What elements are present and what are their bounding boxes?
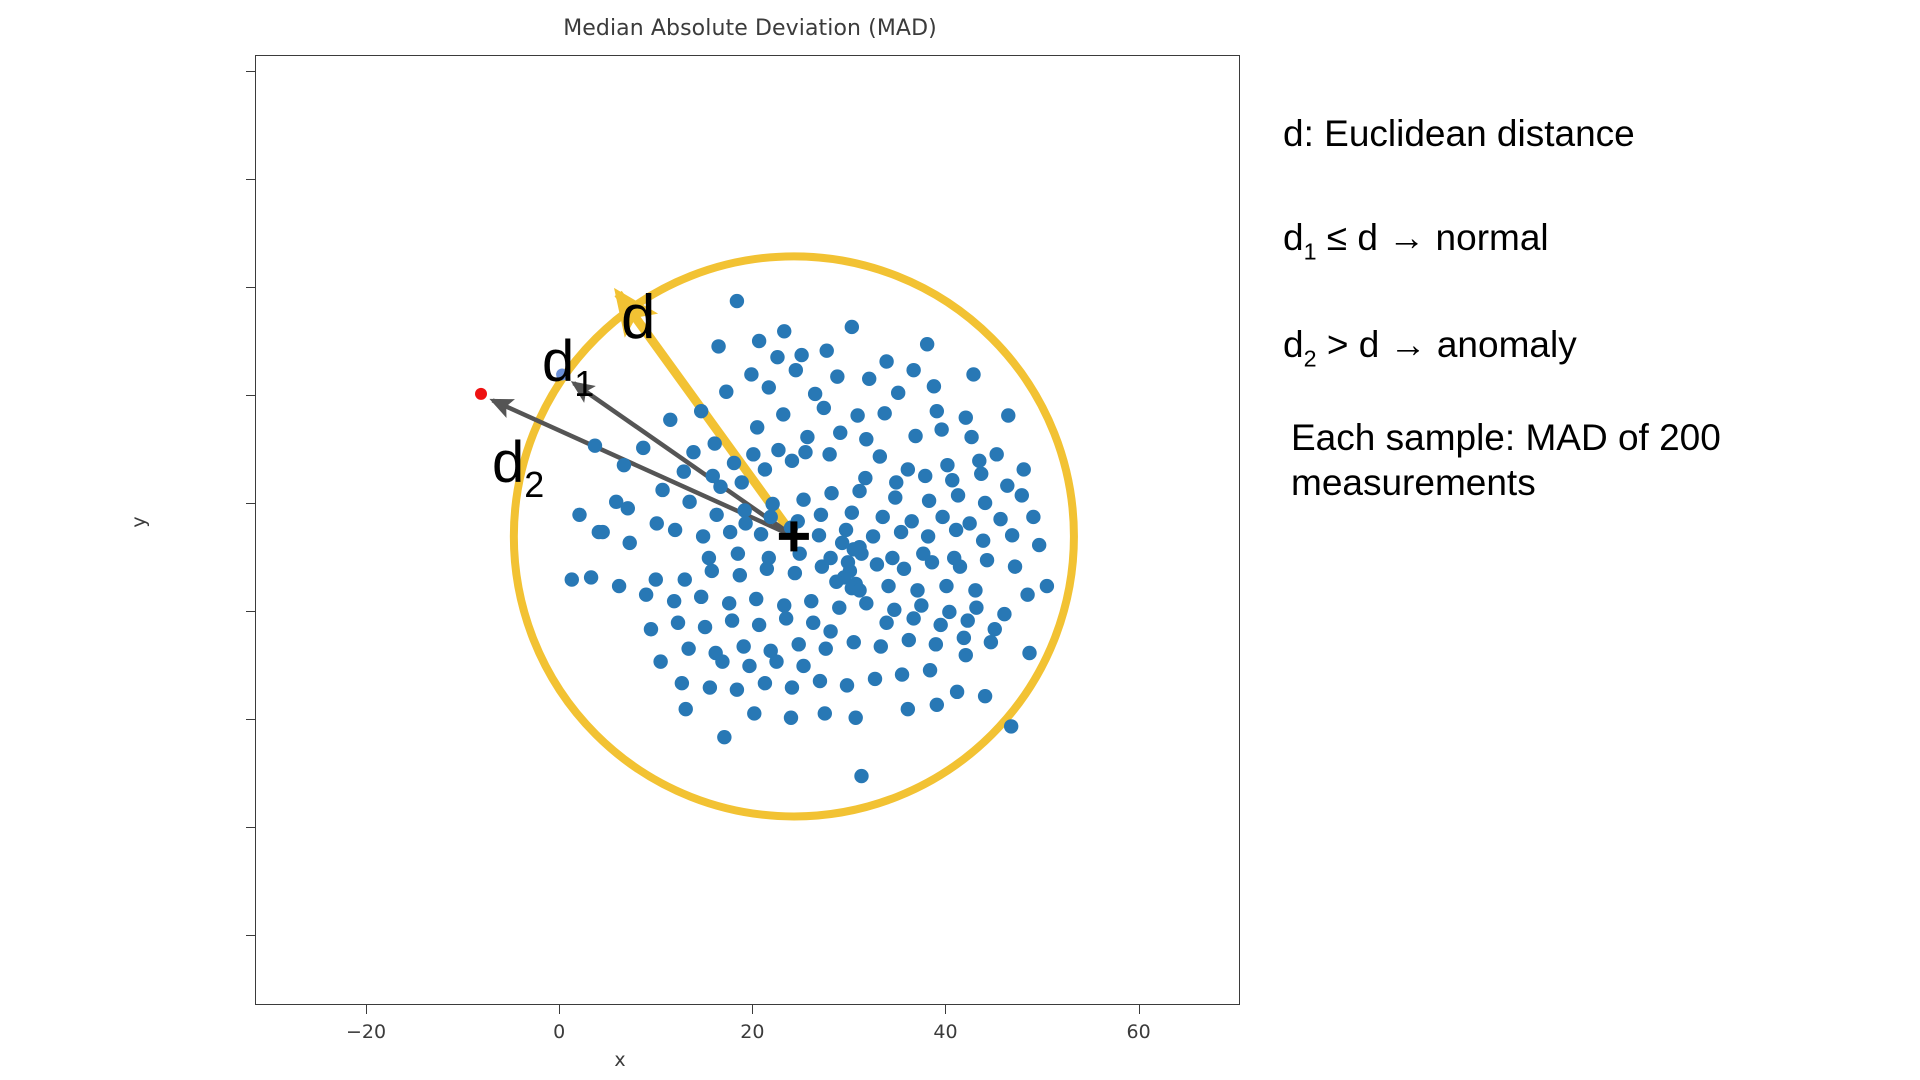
- x-tick: [559, 1005, 560, 1014]
- data-point: [858, 471, 872, 485]
- data-point: [972, 454, 986, 468]
- data-point: [854, 769, 868, 783]
- distance-label-d: d: [621, 287, 655, 349]
- series-samples: [565, 294, 1055, 783]
- data-point: [947, 551, 961, 565]
- data-point: [694, 590, 708, 604]
- data-point: [708, 436, 722, 450]
- data-point: [1008, 559, 1022, 573]
- data-point: [675, 676, 689, 690]
- data-point: [747, 706, 761, 720]
- data-point: [945, 473, 959, 487]
- data-point: [1022, 646, 1036, 660]
- data-point: [758, 462, 772, 476]
- data-point: [823, 551, 837, 565]
- data-point: [703, 680, 717, 694]
- data-point: [835, 536, 849, 550]
- data-point: [764, 510, 778, 524]
- data-point: [758, 676, 772, 690]
- subscript: 1: [574, 363, 594, 404]
- y-tick: [246, 287, 255, 288]
- data-point: [962, 516, 976, 530]
- distance-label-d1: d1: [542, 333, 594, 402]
- data-point: [868, 672, 882, 686]
- data-point: [823, 624, 837, 638]
- data-point: [877, 406, 891, 420]
- notes-panel: d: Euclidean distance d1 ≤ d → normal d2…: [1283, 0, 1920, 1080]
- data-point: [735, 475, 749, 489]
- data-point: [830, 369, 844, 383]
- data-point: [1040, 579, 1054, 593]
- data-point: [785, 680, 799, 694]
- data-point: [752, 618, 766, 632]
- data-point: [876, 510, 890, 524]
- data-point: [588, 439, 602, 453]
- data-point: [964, 430, 978, 444]
- data-point: [686, 445, 700, 459]
- data-point: [921, 529, 935, 543]
- x-tick: [945, 1005, 946, 1014]
- x-tick: [1139, 1005, 1140, 1014]
- data-point: [744, 367, 758, 381]
- data-point: [794, 348, 808, 362]
- data-point: [746, 447, 760, 461]
- data-point: [639, 587, 653, 601]
- data-point: [957, 631, 971, 645]
- x-tick-label: 20: [740, 1021, 764, 1043]
- data-point: [1026, 510, 1040, 524]
- data-point: [798, 445, 812, 459]
- data-point: [752, 334, 766, 348]
- data-point: [623, 536, 637, 550]
- data-point: [824, 486, 838, 500]
- data-point: [850, 408, 864, 422]
- data-point: [997, 607, 1011, 621]
- data-point: [866, 529, 880, 543]
- data-point: [650, 516, 664, 530]
- series-anomaly_example: [475, 388, 487, 400]
- data-point: [777, 598, 791, 612]
- data-point: [817, 401, 831, 415]
- data-point: [1020, 587, 1034, 601]
- data-point: [736, 639, 750, 653]
- data-point: [918, 469, 932, 483]
- data-point: [777, 324, 791, 338]
- data-point: [961, 613, 975, 627]
- y-tick: [246, 71, 255, 72]
- data-point: [885, 551, 899, 565]
- data-point: [980, 553, 994, 567]
- data-point: [742, 659, 756, 673]
- data-point: [942, 605, 956, 619]
- data-point: [923, 663, 937, 677]
- data-point: [725, 613, 739, 627]
- subscript: 2: [1304, 345, 1317, 371]
- data-point: [737, 503, 751, 517]
- data-point: [949, 523, 963, 537]
- data-point: [565, 572, 579, 586]
- note-anomaly-rule: d2 > d → anomaly: [1283, 322, 1577, 373]
- data-point: [796, 659, 810, 673]
- data-point: [988, 622, 1002, 636]
- data-point: [814, 508, 828, 522]
- data-point: [709, 508, 723, 522]
- data-point: [852, 583, 866, 597]
- data-point: [785, 454, 799, 468]
- data-point: [978, 689, 992, 703]
- x-axis-label: x: [0, 1049, 1240, 1071]
- data-point: [933, 618, 947, 632]
- mad-scatter-figure: Median Absolute Deviation (MAD) d d1 d2 …: [0, 0, 1240, 1080]
- data-point: [927, 379, 941, 393]
- data-point: [819, 641, 833, 655]
- data-point: [584, 570, 598, 584]
- data-point: [779, 611, 793, 625]
- data-point: [789, 363, 803, 377]
- data-point: [891, 386, 905, 400]
- y-axis-label: y: [128, 516, 150, 527]
- data-point: [914, 598, 928, 612]
- data-point: [966, 367, 980, 381]
- data-point: [888, 490, 902, 504]
- data-point: [906, 611, 920, 625]
- y-tick: [246, 395, 255, 396]
- x-tick: [752, 1005, 753, 1014]
- data-point: [905, 514, 919, 528]
- x-tick-label: 40: [933, 1021, 957, 1043]
- y-tick: [246, 179, 255, 180]
- note-normal-rule: d1 ≤ d → normal: [1283, 215, 1549, 266]
- data-point: [717, 730, 731, 744]
- data-point: [1004, 719, 1018, 733]
- distance-label-d2: d2: [492, 434, 544, 503]
- data-point: [852, 540, 866, 554]
- data-point: [706, 469, 720, 483]
- data-point: [617, 458, 631, 472]
- data-point: [681, 641, 695, 655]
- data-point: [644, 622, 658, 636]
- data-point: [879, 354, 893, 368]
- data-point: [984, 635, 998, 649]
- data-point: [959, 648, 973, 662]
- data-point: [655, 483, 669, 497]
- data-point: [832, 600, 846, 614]
- data-point: [671, 616, 685, 630]
- data-point: [572, 508, 586, 522]
- data-point: [839, 523, 853, 537]
- data-point: [920, 337, 934, 351]
- data-point: [592, 525, 606, 539]
- y-tick: [246, 611, 255, 612]
- data-point: [894, 525, 908, 539]
- data-point: [698, 620, 712, 634]
- data-point: [935, 510, 949, 524]
- data-point: [818, 706, 832, 720]
- data-point: [978, 496, 992, 510]
- data-point: [841, 555, 855, 569]
- data-point: [621, 501, 635, 515]
- x-tick-label: 0: [553, 1021, 565, 1043]
- data-point: [934, 422, 948, 436]
- data-point: [653, 654, 667, 668]
- data-point: [930, 698, 944, 712]
- data-point: [910, 583, 924, 597]
- data-point: [694, 404, 708, 418]
- data-point: [733, 568, 747, 582]
- data-point: [792, 637, 806, 651]
- data-point: [845, 505, 859, 519]
- data-point: [974, 467, 988, 481]
- data-point: [870, 557, 884, 571]
- data-point: [784, 711, 798, 725]
- data-point: [723, 525, 737, 539]
- x-tick: [366, 1005, 367, 1014]
- data-point: [612, 579, 626, 593]
- data-point: [749, 592, 763, 606]
- data-point: [677, 464, 691, 478]
- data-point: [901, 702, 915, 716]
- data-point: [908, 429, 922, 443]
- data-point: [705, 564, 719, 578]
- data-point: [800, 430, 814, 444]
- data-point: [808, 387, 822, 401]
- data-point: [727, 456, 741, 470]
- data-point: [730, 682, 744, 696]
- data-point: [765, 497, 779, 511]
- data-point: [788, 566, 802, 580]
- data-point: [682, 495, 696, 509]
- subscript: 1: [1304, 238, 1317, 264]
- data-point: [754, 527, 768, 541]
- x-tick-label: −20: [346, 1021, 386, 1043]
- data-point: [848, 711, 862, 725]
- data-point: [475, 388, 487, 400]
- data-point: [950, 685, 964, 699]
- data-point: [847, 635, 861, 649]
- data-point: [906, 363, 920, 377]
- data-point: [804, 594, 818, 608]
- data-point: [678, 572, 692, 586]
- data-point: [667, 594, 681, 608]
- data-point: [939, 579, 953, 593]
- data-point: [762, 551, 776, 565]
- data-point: [874, 639, 888, 653]
- data-point: [895, 667, 909, 681]
- data-point: [859, 432, 873, 446]
- data-point: [750, 420, 764, 434]
- slide-root: Median Absolute Deviation (MAD) d d1 d2 …: [0, 0, 1920, 1080]
- data-point: [702, 551, 716, 565]
- data-point: [1000, 478, 1014, 492]
- data-point: [852, 484, 866, 498]
- chart-title: Median Absolute Deviation (MAD): [255, 16, 1245, 41]
- data-point: [840, 678, 854, 692]
- data-point: [951, 488, 965, 502]
- data-point: [916, 546, 930, 560]
- data-point: [829, 575, 843, 589]
- data-point: [796, 492, 810, 506]
- data-point: [771, 443, 785, 457]
- data-point: [715, 654, 729, 668]
- data-point: [993, 512, 1007, 526]
- data-point: [649, 572, 663, 586]
- data-point: [822, 447, 836, 461]
- data-point: [976, 534, 990, 548]
- data-point: [776, 407, 790, 421]
- data-point: [989, 447, 1003, 461]
- data-point: [820, 344, 834, 358]
- plot-canvas: [256, 56, 1241, 1006]
- data-point: [902, 633, 916, 647]
- note-euclidean-distance: d: Euclidean distance: [1283, 111, 1635, 156]
- data-point: [663, 413, 677, 427]
- data-point: [770, 350, 784, 364]
- y-tick: [246, 719, 255, 720]
- data-point: [722, 596, 736, 610]
- data-point: [1032, 538, 1046, 552]
- data-point: [711, 339, 725, 353]
- data-point: [813, 674, 827, 688]
- note-sample-definition: Each sample: MAD of 200 measurements: [1291, 415, 1891, 505]
- data-point: [879, 616, 893, 630]
- x-tick-label: 60: [1127, 1021, 1151, 1043]
- data-point: [1005, 528, 1019, 542]
- data-point: [636, 441, 650, 455]
- data-point: [1017, 462, 1031, 476]
- data-point: [901, 462, 915, 476]
- data-point: [887, 603, 901, 617]
- data-point: [762, 380, 776, 394]
- data-point: [731, 546, 745, 560]
- data-point: [833, 426, 847, 440]
- data-point: [889, 475, 903, 489]
- arrow-d1: [574, 383, 794, 536]
- y-tick: [246, 503, 255, 504]
- data-point: [929, 637, 943, 651]
- data-point: [862, 372, 876, 386]
- data-point: [719, 385, 733, 399]
- data-point: [769, 654, 783, 668]
- subscript: 2: [524, 464, 544, 505]
- data-point: [940, 458, 954, 472]
- data-point: [1015, 488, 1029, 502]
- data-point: [738, 516, 752, 530]
- data-point: [859, 596, 873, 610]
- y-tick: [246, 935, 255, 936]
- data-point: [730, 294, 744, 308]
- data-point: [881, 579, 895, 593]
- plot-axes: [255, 55, 1240, 1005]
- data-point: [969, 600, 983, 614]
- data-point: [930, 404, 944, 418]
- data-point: [922, 494, 936, 508]
- y-tick: [246, 827, 255, 828]
- data-point: [812, 528, 826, 542]
- data-point: [968, 583, 982, 597]
- data-point: [1001, 408, 1015, 422]
- data-point: [897, 562, 911, 576]
- data-point: [668, 523, 682, 537]
- data-point: [873, 449, 887, 463]
- data-point: [806, 616, 820, 630]
- data-point: [959, 410, 973, 424]
- data-point: [696, 529, 710, 543]
- data-point: [679, 702, 693, 716]
- data-point: [845, 320, 859, 334]
